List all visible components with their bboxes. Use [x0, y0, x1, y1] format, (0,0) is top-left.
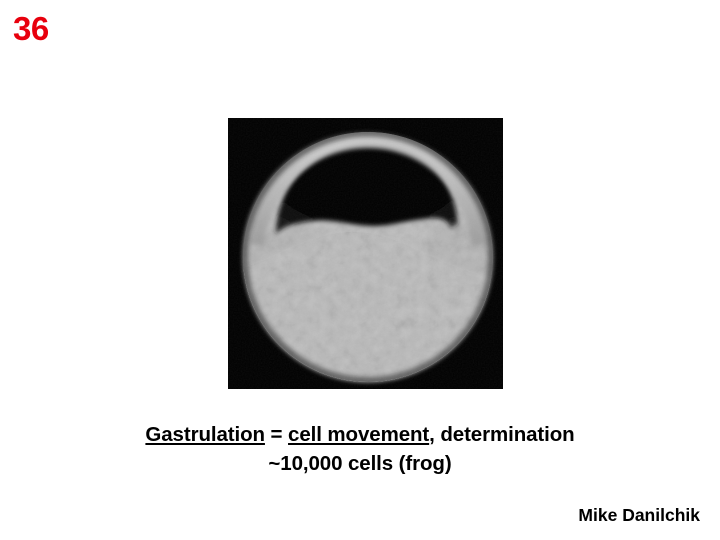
caption-term-gastrulation: Gastrulation [145, 423, 265, 446]
image-credit: Mike Danilchik [578, 507, 700, 525]
caption-term-determination: , determination [429, 423, 574, 446]
embryo-image-canvas [228, 118, 503, 389]
slide-number: 36 [13, 12, 49, 45]
caption-term-cell-movement: cell movement [288, 423, 429, 446]
slide-caption: Gastrulation = cell movement, determinat… [0, 420, 720, 478]
caption-equals: = [265, 423, 288, 446]
caption-line-1: Gastrulation = cell movement, determinat… [0, 420, 720, 449]
presentation-slide: 36 [0, 0, 720, 540]
caption-line-2: ~10,000 cells (frog) [0, 449, 720, 478]
frog-embryo-micrograph [228, 118, 503, 389]
